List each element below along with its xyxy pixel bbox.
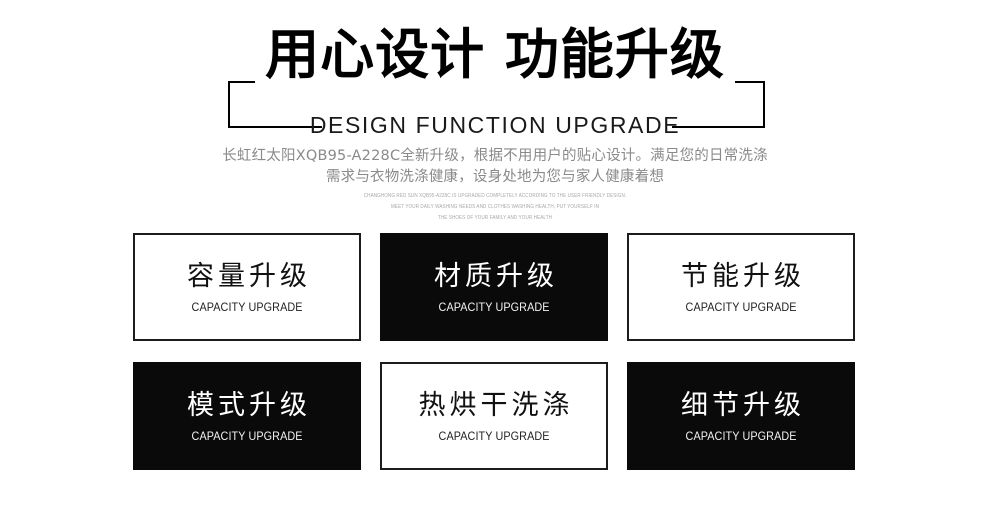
page-subtitle: DESIGN FUNCTION UPGRADE (0, 110, 990, 140)
feature-card-title: 节能升级 (677, 260, 805, 294)
feature-card-material[interactable]: 材质升级 CAPACITY UPGRADE (380, 233, 608, 341)
feature-card-subtitle: CAPACITY UPGRADE (438, 301, 549, 315)
description-line-2: 需求与衣物洗涤健康，设身处地为您与家人健康着想 (0, 167, 990, 188)
feature-card-subtitle: CAPACITY UPGRADE (685, 430, 796, 444)
feature-card-row-1: 容量升级 CAPACITY UPGRADE 材质升级 CAPACITY UPGR… (133, 233, 855, 341)
feature-card-grid: 容量升级 CAPACITY UPGRADE 材质升级 CAPACITY UPGR… (133, 233, 855, 470)
header-banner: 用心设计 功能升级 DESIGN FUNCTION UPGRADE (0, 0, 990, 140)
feature-card-subtitle: CAPACITY UPGRADE (438, 430, 549, 444)
fine-print-line-3: THE SHOES OF YOUR FAMILY AND YOUR HEALTH (0, 215, 990, 222)
feature-card-subtitle: CAPACITY UPGRADE (191, 430, 302, 444)
feature-card-title: 材质升级 (430, 260, 558, 294)
page-title: 用心设计 功能升级 (0, 24, 990, 86)
feature-card-row-2: 模式升级 CAPACITY UPGRADE 热烘干洗涤 CAPACITY UPG… (133, 362, 855, 470)
feature-card-title: 细节升级 (677, 389, 805, 423)
feature-card-subtitle: CAPACITY UPGRADE (191, 301, 302, 315)
feature-card-capacity[interactable]: 容量升级 CAPACITY UPGRADE (133, 233, 361, 341)
feature-card-subtitle: CAPACITY UPGRADE (685, 301, 796, 315)
description-line-1: 长虹红太阳XQB95-A228C全新升级，根据不用用户的贴心设计。满足您的日常洗… (0, 146, 990, 167)
feature-card-energy-saving[interactable]: 节能升级 CAPACITY UPGRADE (627, 233, 855, 341)
feature-card-mode[interactable]: 模式升级 CAPACITY UPGRADE (133, 362, 361, 470)
feature-card-detail[interactable]: 细节升级 CAPACITY UPGRADE (627, 362, 855, 470)
fine-print-line-2: MEET YOUR DAILY WASHING NEEDS AND CLOTHE… (0, 204, 990, 211)
feature-card-hot-dry-wash[interactable]: 热烘干洗涤 CAPACITY UPGRADE (380, 362, 608, 470)
feature-card-title: 容量升级 (183, 260, 311, 294)
feature-card-title: 热烘干洗涤 (415, 389, 574, 423)
fine-print-line-1: CHANGHONG RED SUN XQB95-A228C IS UPGRADE… (0, 193, 990, 200)
description-block: 长虹红太阳XQB95-A228C全新升级，根据不用用户的贴心设计。满足您的日常洗… (0, 146, 990, 222)
feature-card-title: 模式升级 (183, 389, 311, 423)
